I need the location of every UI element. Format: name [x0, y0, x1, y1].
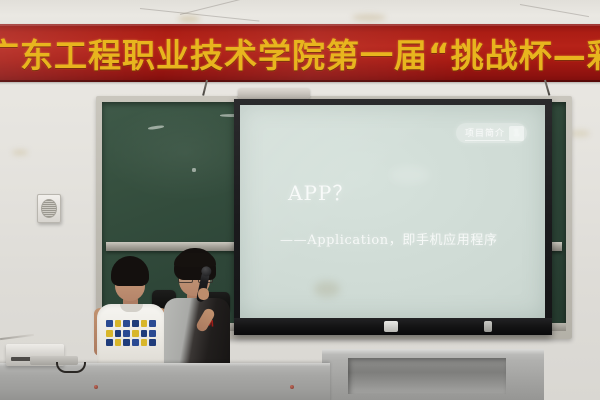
hand — [198, 288, 209, 300]
screen-surface: APP？ ——Application，即手机应用程序 项目简介 1 — [240, 105, 545, 318]
wall-smudge — [352, 14, 386, 21]
slide-title: APP？ — [288, 177, 353, 206]
equipment-cable — [56, 362, 86, 373]
hair-fringe — [174, 253, 216, 267]
classroom-photo-scene: 广东工程职业技术学院第一届“挑战杯—彩虹人生”钅 — [0, 0, 600, 400]
lectern-podium — [0, 363, 330, 400]
graphic-row — [106, 330, 156, 337]
event-banner: 广东工程职业技术学院第一届“挑战杯—彩虹人生”钅 — [0, 24, 600, 82]
slide-body-text: ——Application，即手机应用程序 — [280, 228, 530, 253]
screen-weight-bar — [234, 318, 552, 335]
chalk-mark — [192, 168, 196, 172]
wall-speaker-icon — [37, 194, 61, 223]
speaker-grill — [41, 199, 57, 218]
slide-section-badge: 项目简介 1 — [456, 123, 527, 143]
wall-smudge — [12, 150, 28, 155]
podium-knob[interactable] — [290, 385, 294, 389]
wall-smudge — [178, 16, 200, 22]
banner-top-edge — [0, 24, 600, 26]
screen-bar-clip — [484, 321, 492, 332]
graphic-row — [106, 320, 156, 327]
slide-content: APP？ ——Application，即手机应用程序 项目简介 1 — [240, 105, 545, 318]
screen-stain — [390, 165, 430, 185]
hair — [111, 256, 149, 286]
chalk-mark — [148, 125, 164, 130]
projection-screen: APP？ ——Application，即手机应用程序 项目简介 1 — [234, 99, 552, 335]
torso-shirt: EM — [164, 298, 230, 368]
student-left — [95, 256, 167, 366]
slide-badge-number: 1 — [509, 126, 524, 141]
wall-smudge — [570, 130, 590, 137]
desk-right-edge — [322, 349, 544, 354]
student-right: EM — [160, 248, 236, 368]
shirt-graphic — [106, 320, 156, 346]
screen-bar-clip — [384, 321, 398, 332]
screen-stain — [314, 281, 340, 297]
wall-upper-strip — [0, 0, 600, 26]
banner-bottom-edge — [0, 80, 600, 82]
banner-text: 广东工程职业技术学院第一届“挑战杯—彩虹人生”钅 — [0, 29, 600, 77]
torso-shirt — [97, 304, 165, 366]
slide-badge-label: 项目简介 — [465, 126, 505, 141]
graphic-row — [106, 339, 156, 346]
desk-open-shelf — [348, 358, 506, 394]
shirt-collar — [120, 304, 143, 312]
screen-roller-housing — [238, 88, 310, 99]
podium-knob[interactable] — [94, 385, 98, 389]
